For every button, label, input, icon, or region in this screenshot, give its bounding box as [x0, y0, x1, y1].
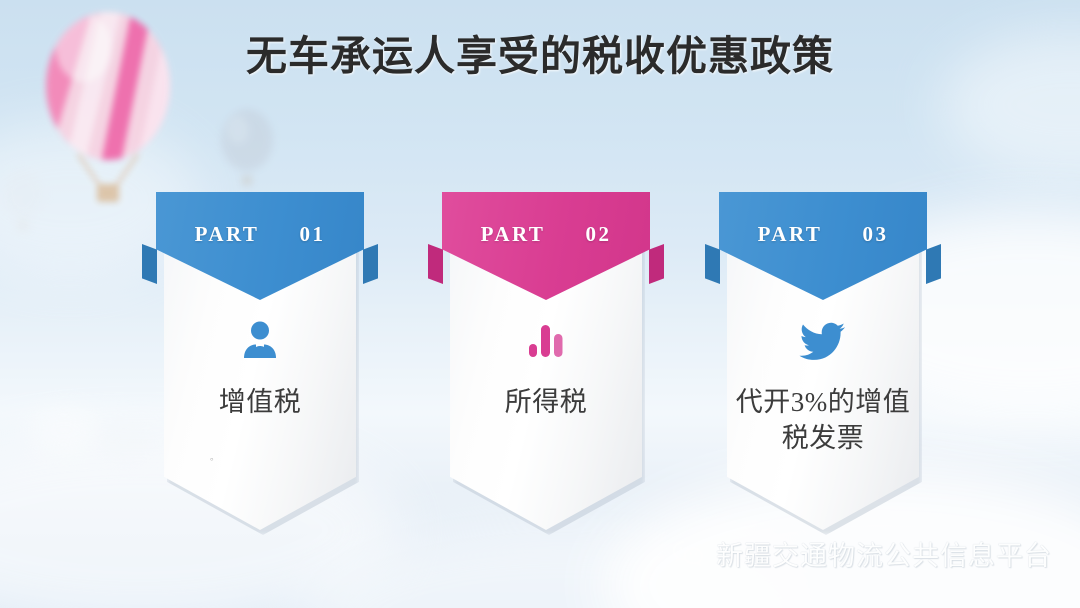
wechat-icon [672, 540, 706, 568]
watermark-text: 新疆交通物流公共信息平台 [716, 534, 1052, 573]
card-icon-slot-3 [727, 314, 919, 366]
card-icon-slot-1 [164, 314, 356, 366]
ribbon-fold-left [428, 244, 443, 284]
ribbon-fold-right [649, 244, 664, 284]
slide-canvas: 无车承运人享受的税收优惠政策 增值税 。 PAR [0, 0, 1080, 608]
bar-chart-icon [526, 322, 566, 358]
part-number-3: 03 [862, 222, 888, 247]
card-group: 增值税 。 PART 01 [0, 0, 1080, 608]
card-icon-slot-2 [450, 314, 642, 366]
card-caption-3: 代开3%的增值税发票 [733, 384, 913, 456]
ribbon-fold-right [363, 244, 378, 284]
ribbon-fold-left [705, 244, 720, 284]
card-ribbon-3: PART 03 [705, 192, 941, 304]
card-caption-2: 所得税 [456, 384, 636, 420]
ribbon-label-1: PART 01 [156, 222, 364, 247]
part-number-1: 01 [299, 222, 325, 247]
part-word-1: PART [195, 222, 260, 247]
people-icon [238, 320, 282, 360]
part-number-2: 02 [585, 222, 611, 247]
watermark: 新疆交通物流公共信息平台 [672, 534, 1052, 573]
card-ribbon-2: PART 02 [428, 192, 664, 304]
ribbon-fold-right [926, 244, 941, 284]
ribbon-label-2: PART 02 [442, 222, 650, 247]
part-word-3: PART [758, 222, 823, 247]
ribbon-label-3: PART 03 [719, 222, 927, 247]
card-part-01[interactable]: 增值税 。 PART 01 [164, 198, 356, 530]
card-part-02[interactable]: 所得税 PART 02 [450, 198, 642, 530]
part-word-2: PART [481, 222, 546, 247]
card-caption-1: 增值税 [170, 384, 350, 420]
card-mark-1: 。 [210, 450, 219, 463]
card-ribbon-1: PART 01 [142, 192, 378, 304]
card-part-03[interactable]: 代开3%的增值税发票 PART 03 [727, 198, 919, 530]
bird-icon [799, 320, 847, 360]
ribbon-fold-left [142, 244, 157, 284]
